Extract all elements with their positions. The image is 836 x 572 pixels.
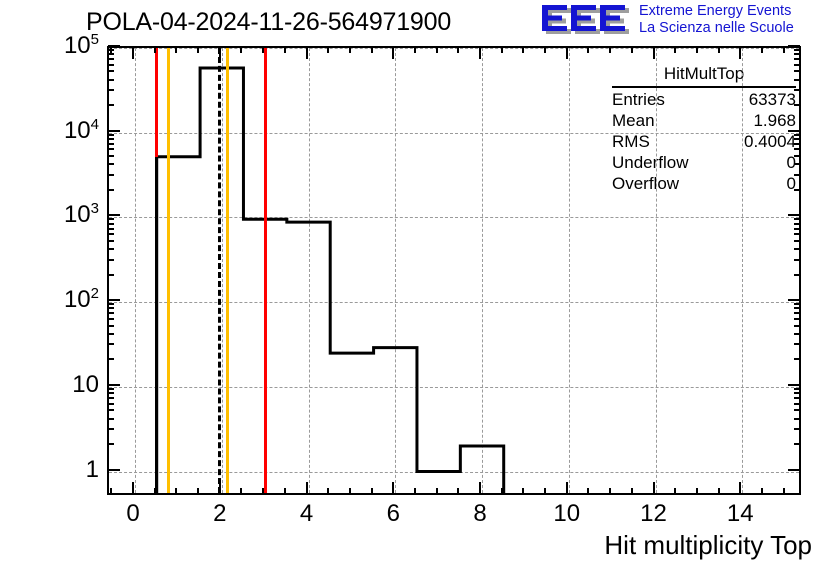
- y-axis-tick-minor-right: [794, 233, 800, 235]
- y-axis-tick-minor-right: [794, 143, 800, 145]
- x-axis-tick: [739, 482, 741, 494]
- y-axis-tick-minor-right: [794, 259, 800, 261]
- y-axis-tick-label: 103: [0, 201, 99, 229]
- histogram-left-edge: [155, 157, 158, 493]
- y-axis-tick-minor: [108, 138, 114, 140]
- y-axis-tick-minor-right: [794, 274, 800, 276]
- y-axis-tick-minor: [108, 312, 114, 314]
- x-axis-tick-minor-top: [284, 47, 286, 53]
- y-axis-tick-minor: [108, 143, 114, 145]
- x-axis-tick-label: 6: [387, 500, 400, 528]
- y-axis-tick-right: [788, 130, 800, 132]
- y-axis-tick-minor: [108, 223, 114, 225]
- y-axis-tick-minor-right: [794, 403, 800, 405]
- x-axis-title: Hit multiplicity Top: [604, 530, 812, 561]
- x-axis-tick-top: [392, 47, 394, 59]
- y-axis-tick-minor-right: [794, 343, 800, 345]
- x-axis-tick-minor-top: [718, 47, 720, 53]
- y-axis-tick-minor: [108, 397, 114, 399]
- y-axis-tick-label: 1: [0, 456, 99, 484]
- y-axis-tick-minor: [108, 174, 114, 176]
- y-axis-tick-minor-right: [794, 443, 800, 445]
- x-axis-tick: [522, 488, 524, 494]
- y-axis-tick-minor-right: [794, 428, 800, 430]
- y-axis-tick-minor: [108, 218, 114, 220]
- y-axis-tick-minor-right: [794, 155, 800, 157]
- x-axis-tick: [783, 488, 785, 494]
- marker-line-orange-right: [226, 48, 229, 493]
- marker-line-red-right: [264, 48, 267, 493]
- y-axis-tick: [108, 469, 120, 471]
- y-axis-tick-label: 102: [0, 286, 99, 314]
- y-axis-tick-minor: [108, 248, 114, 250]
- y-axis-tick-minor-right: [794, 312, 800, 314]
- y-axis-tick-minor: [108, 418, 114, 420]
- y-axis-tick-minor: [108, 388, 114, 390]
- x-axis-tick-minor-top: [631, 47, 633, 53]
- x-axis-tick-minor: [587, 488, 589, 494]
- y-axis-tick-label: 104: [0, 117, 99, 145]
- x-axis-tick-minor-top: [327, 47, 329, 53]
- x-axis-tick-minor: [371, 488, 373, 494]
- marker-line-orange-left: [167, 48, 170, 493]
- x-axis-tick: [609, 488, 611, 494]
- x-axis-tick-label: 0: [126, 500, 139, 528]
- x-axis-tick-minor: [631, 488, 633, 494]
- histogram-path: [157, 68, 504, 493]
- y-axis-tick-minor-right: [794, 358, 800, 360]
- plot-frame: [107, 46, 801, 495]
- x-axis-tick-top: [436, 47, 438, 53]
- eee-logo-line2: La Scienza nelle Scuole: [639, 20, 794, 37]
- x-axis-tick-label: 12: [640, 500, 667, 528]
- y-axis-tick-minor: [108, 333, 114, 335]
- histogram-outline: [109, 48, 799, 493]
- y-axis-tick-minor-right: [794, 418, 800, 420]
- y-axis-tick-minor-right: [794, 49, 800, 51]
- y-axis-tick-minor-right: [794, 53, 800, 55]
- x-axis-tick: [132, 482, 134, 494]
- x-axis-tick-top: [175, 47, 177, 53]
- y-axis-tick-minor: [108, 358, 114, 360]
- y-axis-tick-minor: [108, 89, 114, 91]
- x-axis-tick-top: [653, 47, 655, 59]
- x-axis-tick-label: 14: [727, 500, 754, 528]
- x-axis-tick-minor: [240, 488, 242, 494]
- y-axis-tick-minor: [108, 240, 114, 242]
- y-axis-tick-minor: [108, 49, 114, 51]
- y-axis-tick-right: [788, 45, 800, 47]
- y-axis-tick-minor-right: [794, 307, 800, 309]
- y-axis-tick-right: [788, 299, 800, 301]
- y-axis-tick-minor-right: [794, 64, 800, 66]
- y-axis-tick-minor: [108, 233, 114, 235]
- x-axis-tick-top: [219, 47, 221, 59]
- x-axis-tick-top: [739, 47, 741, 59]
- y-axis-tick: [108, 384, 120, 386]
- x-axis-tick-minor: [197, 488, 199, 494]
- y-axis-tick-right: [788, 469, 800, 471]
- y-axis-tick-minor-right: [794, 318, 800, 320]
- marker-line-mean-dashed: [218, 48, 221, 493]
- y-axis-tick-minor-right: [794, 58, 800, 60]
- x-axis-tick-top: [349, 47, 351, 53]
- y-axis-tick-minor-right: [794, 189, 800, 191]
- eee-logo-line1: Extreme Energy Events: [639, 3, 794, 20]
- x-axis-tick-top: [609, 47, 611, 53]
- y-axis-tick-label: 105: [0, 32, 99, 60]
- x-axis-tick-top: [479, 47, 481, 59]
- y-axis-tick-minor-right: [794, 174, 800, 176]
- y-axis-tick-minor: [108, 325, 114, 327]
- x-axis-tick: [566, 482, 568, 494]
- y-axis-tick-minor: [108, 403, 114, 405]
- y-axis-tick-minor: [108, 79, 114, 81]
- y-axis-tick-minor: [108, 303, 114, 305]
- y-axis-tick-right: [788, 384, 800, 386]
- x-axis-tick-minor: [414, 488, 416, 494]
- y-axis-tick-minor: [108, 228, 114, 230]
- x-axis-tick-label: 4: [300, 500, 313, 528]
- x-axis-tick: [436, 488, 438, 494]
- y-axis-tick-minor-right: [794, 223, 800, 225]
- x-axis-tick-minor: [327, 488, 329, 494]
- x-axis-tick-minor-top: [674, 47, 676, 53]
- y-axis-tick-minor: [108, 409, 114, 411]
- y-axis-tick: [108, 130, 120, 132]
- y-axis-tick-minor-right: [794, 325, 800, 327]
- x-axis-tick-minor: [501, 488, 503, 494]
- y-axis-tick-minor-right: [794, 148, 800, 150]
- y-axis-tick: [108, 45, 120, 47]
- y-axis-tick-label: 10: [0, 371, 99, 399]
- eee-logo-text: Extreme Energy Events La Scienza nelle S…: [639, 3, 794, 37]
- y-axis-tick-minor: [108, 70, 114, 72]
- x-axis-tick: [306, 482, 308, 494]
- x-axis-tick: [349, 488, 351, 494]
- x-axis-tick-minor: [457, 488, 459, 494]
- x-axis-tick: [696, 488, 698, 494]
- x-axis-tick-top: [132, 47, 134, 59]
- y-axis-tick-minor-right: [794, 392, 800, 394]
- y-axis-tick-minor: [108, 53, 114, 55]
- y-axis-tick-minor-right: [794, 409, 800, 411]
- x-axis-tick-minor-top: [371, 47, 373, 53]
- y-axis-tick-minor: [108, 148, 114, 150]
- y-axis-tick-minor: [108, 58, 114, 60]
- y-axis-tick-minor: [108, 134, 114, 136]
- x-axis-tick: [479, 482, 481, 494]
- eee-logo: Extreme Energy Events La Scienza nelle S…: [541, 2, 833, 42]
- y-axis-tick-minor-right: [794, 248, 800, 250]
- y-axis-tick-minor-right: [794, 218, 800, 220]
- x-axis-tick-minor: [110, 488, 112, 494]
- x-axis-tick-minor: [284, 488, 286, 494]
- y-axis-tick-minor-right: [794, 388, 800, 390]
- y-axis-tick-minor-right: [794, 397, 800, 399]
- eee-logo-icon: [541, 4, 633, 38]
- y-axis-tick-minor-right: [794, 79, 800, 81]
- y-axis-tick-minor: [108, 318, 114, 320]
- y-axis-tick-minor: [108, 104, 114, 106]
- y-axis-tick: [108, 299, 120, 301]
- y-axis-tick-minor: [108, 189, 114, 191]
- page-title: POLA-04-2024-11-26-564971900: [86, 8, 451, 37]
- x-axis-tick: [653, 482, 655, 494]
- x-axis-tick-minor-top: [457, 47, 459, 53]
- y-axis-tick-minor-right: [794, 134, 800, 136]
- y-axis-tick: [108, 214, 120, 216]
- x-axis-tick-minor-top: [414, 47, 416, 53]
- x-axis-tick-minor-top: [197, 47, 199, 53]
- y-axis-tick-minor: [108, 259, 114, 261]
- x-axis-tick-minor-top: [240, 47, 242, 53]
- y-axis-tick-minor: [108, 343, 114, 345]
- y-axis-tick-minor-right: [794, 104, 800, 106]
- y-axis-tick-minor: [108, 428, 114, 430]
- x-axis-tick-top: [783, 47, 785, 53]
- x-axis-tick-top: [696, 47, 698, 53]
- y-axis-tick-minor-right: [794, 163, 800, 165]
- y-axis-tick-minor: [108, 155, 114, 157]
- x-axis-tick-label: 10: [553, 500, 580, 528]
- y-axis-tick-minor-right: [794, 333, 800, 335]
- x-axis-tick-label: 8: [473, 500, 486, 528]
- x-axis-tick-minor-top: [544, 47, 546, 53]
- x-axis-tick-minor-top: [154, 47, 156, 53]
- y-axis-tick-minor: [108, 443, 114, 445]
- x-axis-tick-top: [306, 47, 308, 59]
- y-axis-tick-minor: [108, 274, 114, 276]
- y-axis-tick-minor-right: [794, 89, 800, 91]
- x-axis-tick-minor: [761, 488, 763, 494]
- x-axis-tick: [219, 482, 221, 494]
- x-axis-tick-minor: [154, 488, 156, 494]
- x-axis-tick-minor-top: [587, 47, 589, 53]
- y-axis-tick-minor: [108, 307, 114, 309]
- x-axis-tick-minor: [544, 488, 546, 494]
- y-axis-tick-minor-right: [794, 303, 800, 305]
- y-axis-tick-right: [788, 214, 800, 216]
- x-axis-tick-top: [522, 47, 524, 53]
- x-axis-tick-label: 2: [213, 500, 226, 528]
- x-axis-tick: [262, 488, 264, 494]
- x-axis-tick: [392, 482, 394, 494]
- x-axis-tick-top: [566, 47, 568, 59]
- plot-area: [109, 48, 799, 493]
- chart-canvas: POLA-04-2024-11-26-564971900: [0, 0, 836, 572]
- x-axis-tick-minor-top: [501, 47, 503, 53]
- y-axis-tick-minor-right: [794, 240, 800, 242]
- y-axis-tick-minor: [108, 392, 114, 394]
- x-axis-tick-minor-top: [761, 47, 763, 53]
- y-axis-tick-minor-right: [794, 228, 800, 230]
- x-axis-tick-minor: [674, 488, 676, 494]
- y-axis-tick-minor: [108, 163, 114, 165]
- x-axis-tick-top: [262, 47, 264, 53]
- y-axis-tick-minor-right: [794, 70, 800, 72]
- y-axis-tick-minor: [108, 64, 114, 66]
- x-axis-tick: [175, 488, 177, 494]
- x-axis-tick-minor: [718, 488, 720, 494]
- y-axis-tick-minor-right: [794, 138, 800, 140]
